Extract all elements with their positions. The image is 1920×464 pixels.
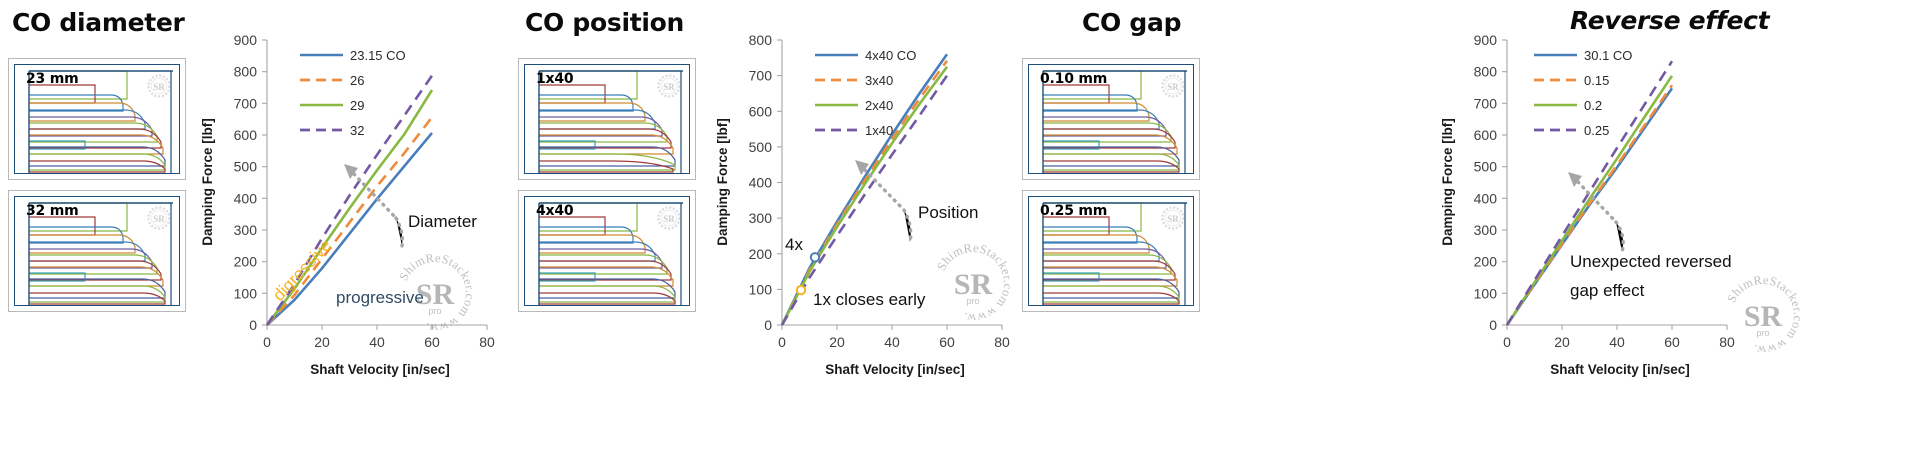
svg-text:SR: SR — [153, 214, 165, 224]
data-marker-1x — [797, 286, 805, 294]
svg-text:100: 100 — [749, 281, 773, 297]
y-axis-ticks: 900 800 700 600 500 400 300 200 100 0 — [1474, 32, 1507, 333]
svg-text:100: 100 — [234, 285, 258, 301]
svg-text:500: 500 — [1474, 159, 1498, 175]
svg-text:0: 0 — [249, 317, 257, 333]
annotation-4x: 4x — [785, 235, 803, 254]
svg-text:900: 900 — [234, 32, 258, 48]
svg-text:200: 200 — [749, 246, 773, 262]
y-axis-ticks: 800 700 600 500 400 300 200 100 0 — [749, 32, 782, 333]
svg-text:700: 700 — [234, 95, 258, 111]
watermark-shimrestacker: ShimReStacker.com www. SR pro — [930, 240, 1016, 331]
svg-text:SR: SR — [1167, 214, 1179, 224]
annotation-gap-effect: gap effect — [1570, 281, 1645, 300]
svg-text:700: 700 — [1474, 95, 1498, 111]
chart-legend: 4x40 CO 3x40 2x40 1x40 — [815, 48, 916, 138]
x-axis-title: Shaft Velocity [in/sec] — [825, 362, 965, 377]
legend-label: 32 — [350, 123, 364, 138]
x-axis-ticks: 0 20 40 60 80 — [1503, 325, 1735, 350]
svg-text:300: 300 — [1474, 222, 1498, 238]
sr-logo-icon: SR — [656, 73, 682, 104]
svg-text:80: 80 — [994, 334, 1010, 350]
callout-arrow-icon — [855, 160, 911, 242]
x-axis-title: Shaft Velocity [in/sec] — [1550, 362, 1690, 377]
legend-label: 0.25 — [1584, 123, 1609, 138]
watermark-shimrestacker: ShimReStacker.com www. SR pro — [392, 250, 478, 341]
chart-legend: 23.15 CO 26 29 32 — [300, 48, 406, 138]
svg-text:300: 300 — [234, 222, 258, 238]
svg-text:400: 400 — [234, 190, 258, 206]
legend-label: 2x40 — [865, 98, 893, 113]
shim-stack-thumb-025mm: 0.25 mm SR — [1022, 190, 1200, 312]
shim-stack-label: 0.10 mm — [1040, 71, 1107, 87]
svg-text:pro: pro — [966, 296, 979, 306]
sr-logo-icon: SR — [146, 73, 172, 104]
legend-label: 1x40 — [865, 123, 893, 138]
shim-stack-thumb-23mm: 23 mm SR — [8, 58, 186, 180]
y-axis-title: Damping Force [lbf] — [1440, 118, 1455, 246]
sr-logo-icon: SR — [656, 205, 682, 236]
annotation-position: Position — [918, 203, 978, 222]
svg-text:600: 600 — [234, 127, 258, 143]
svg-text:900: 900 — [1474, 32, 1498, 48]
sr-logo-icon: SR — [1160, 73, 1186, 104]
svg-text:pro: pro — [428, 306, 441, 316]
legend-label: 0.2 — [1584, 98, 1602, 113]
panel-title-co-diameter: CO diameter — [12, 8, 185, 37]
svg-text:0: 0 — [1503, 334, 1511, 350]
x-axis-title: Shaft Velocity [in/sec] — [310, 362, 450, 377]
svg-text:SR: SR — [1167, 82, 1179, 92]
svg-text:0: 0 — [778, 334, 786, 350]
svg-text:SR: SR — [663, 82, 675, 92]
y-axis-title: Damping Force [lbf] — [715, 118, 730, 246]
legend-label: 26 — [350, 73, 364, 88]
svg-text:400: 400 — [749, 175, 773, 191]
svg-text:800: 800 — [234, 64, 258, 80]
sr-logo-icon: SR — [146, 205, 172, 236]
svg-text:0: 0 — [263, 334, 271, 350]
svg-text:40: 40 — [884, 334, 900, 350]
annotation-unexpected-reversed: Unexpected reversed — [1570, 252, 1732, 271]
legend-label: 3x40 — [865, 73, 893, 88]
svg-text:40: 40 — [369, 334, 385, 350]
panel-title-co-position: CO position — [525, 8, 684, 37]
legend-label: 30.1 CO — [1584, 48, 1632, 63]
shim-stack-thumb-1x40: 1x40 SR — [518, 58, 696, 180]
legend-label: 4x40 CO — [865, 48, 916, 63]
svg-text:300: 300 — [749, 210, 773, 226]
svg-text:500: 500 — [234, 159, 258, 175]
svg-text:600: 600 — [1474, 127, 1498, 143]
svg-text:20: 20 — [314, 334, 330, 350]
svg-text:SR: SR — [663, 214, 675, 224]
svg-text:600: 600 — [749, 103, 773, 119]
svg-text:pro: pro — [1756, 328, 1769, 338]
svg-text:80: 80 — [1719, 334, 1735, 350]
shim-stack-thumb-4x40: 4x40 SR — [518, 190, 696, 312]
svg-text:60: 60 — [1664, 334, 1680, 350]
chart-reverse-effect: 900 800 700 600 500 400 300 200 100 0 0 … — [1430, 22, 1900, 382]
svg-text:500: 500 — [749, 139, 773, 155]
sr-logo-icon: SR — [1160, 205, 1186, 236]
svg-text:800: 800 — [749, 32, 773, 48]
y-axis-title: Damping Force [lbf] — [200, 118, 215, 246]
panel-title-co-gap: CO gap — [1082, 8, 1181, 37]
svg-text:0: 0 — [1489, 317, 1497, 333]
svg-text:100: 100 — [1474, 285, 1498, 301]
svg-text:200: 200 — [1474, 254, 1498, 270]
annotation-1x-closes-early: 1x closes early — [813, 290, 926, 309]
shim-stack-label: 4x40 — [536, 203, 573, 219]
legend-label: 29 — [350, 98, 364, 113]
data-marker-4x — [811, 253, 819, 261]
svg-text:20: 20 — [829, 334, 845, 350]
shim-stack-thumb-32mm: 32 mm SR — [8, 190, 186, 312]
svg-text:80: 80 — [479, 334, 495, 350]
chart-legend: 30.1 CO 0.15 0.2 0.25 — [1534, 48, 1632, 138]
svg-text:700: 700 — [749, 68, 773, 84]
shim-stack-label: 1x40 — [536, 71, 573, 87]
shim-stack-label: 23 mm — [26, 71, 79, 87]
svg-text:800: 800 — [1474, 64, 1498, 80]
svg-text:20: 20 — [1554, 334, 1570, 350]
svg-text:200: 200 — [234, 254, 258, 270]
legend-label: 0.15 — [1584, 73, 1609, 88]
y-axis-ticks: 900 800 700 600 500 400 300 200 100 0 — [234, 32, 267, 333]
watermark-shimrestacker: ShimReStacker.com www. SR pro — [1724, 273, 1805, 357]
legend-label: 23.15 CO — [350, 48, 406, 63]
series-lines — [782, 54, 947, 325]
svg-text:400: 400 — [1474, 190, 1498, 206]
svg-text:60: 60 — [939, 334, 955, 350]
shim-stack-label: 0.25 mm — [1040, 203, 1107, 219]
annotation-digressive: digressive — [269, 236, 335, 305]
shim-stack-label: 32 mm — [26, 203, 79, 219]
figure-sheet: CO diameter — [0, 0, 1920, 464]
svg-text:SR: SR — [153, 82, 165, 92]
shim-stack-thumb-010mm: 0.10 mm SR — [1022, 58, 1200, 180]
annotation-diameter: Diameter — [408, 212, 477, 231]
svg-text:0: 0 — [764, 317, 772, 333]
svg-text:40: 40 — [1609, 334, 1625, 350]
